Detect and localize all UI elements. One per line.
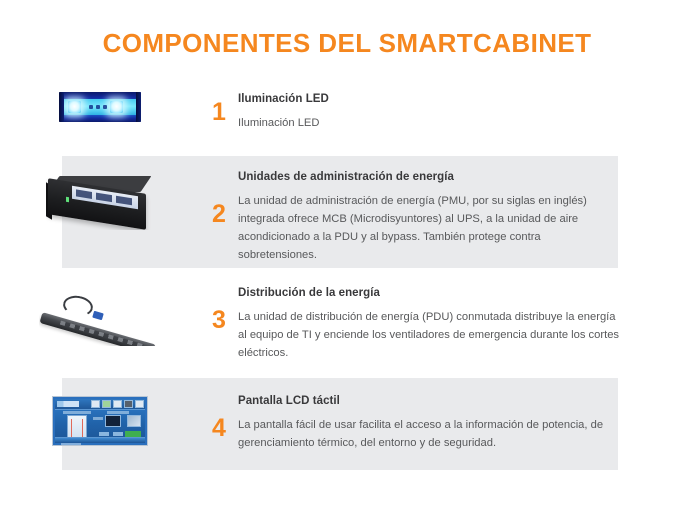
thumbnail-cell	[0, 92, 200, 122]
led-strip-image	[59, 92, 141, 122]
pmu-breaker-slot	[116, 196, 132, 206]
row-content: 3 Distribución de la energía La unidad d…	[0, 278, 694, 362]
led-chip	[68, 101, 81, 113]
lcd-toolbar-icon	[91, 400, 100, 408]
pdu-outlets	[60, 321, 144, 346]
pmu-status-led	[66, 197, 69, 202]
item-number: 1	[200, 92, 238, 125]
lcd-text-line	[63, 411, 91, 414]
thumbnail-cell	[0, 286, 200, 346]
pdu-strip-image	[39, 290, 161, 346]
pmu-breaker-slot	[96, 193, 112, 203]
row-content: 2 Unidades de administración de energía …	[0, 156, 694, 265]
lcd-toolbar-icon	[135, 400, 144, 408]
item-heading: Distribución de la energía	[238, 286, 676, 301]
lcd-logo	[57, 401, 79, 407]
led-chip	[110, 101, 123, 113]
item-heading: Iluminación LED	[238, 92, 676, 107]
component-row-4: 4 Pantalla LCD táctil La pantalla fácil …	[0, 378, 694, 470]
item-heading: Unidades de administración de energía	[238, 170, 676, 185]
lcd-text-line	[107, 411, 129, 414]
item-text: Iluminación LED Iluminación LED	[238, 92, 694, 132]
led-resistor	[89, 105, 93, 109]
item-text: Distribución de la energía La unidad de …	[238, 286, 694, 362]
led-edge-left	[59, 92, 64, 122]
item-number: 3	[200, 286, 238, 333]
lcd-text-line	[61, 443, 81, 446]
lcd-toolbar-icon	[124, 400, 133, 408]
lcd-photo-widget	[127, 415, 141, 427]
item-body: La unidad de distribución de energía (PD…	[238, 308, 620, 362]
item-body: Iluminación LED	[238, 114, 610, 132]
infographic-page: COMPONENTES DEL SMARTCABINET 1 Iluminaci…	[0, 0, 694, 516]
item-text: Unidades de administración de energía La…	[238, 170, 694, 265]
led-resistor	[96, 105, 100, 109]
row-content: 1 Iluminación LED Iluminación LED	[0, 92, 694, 132]
item-body: La pantalla fácil de usar facilita el ac…	[238, 416, 614, 452]
lcd-toolbar-icon	[113, 400, 122, 408]
pdu-plug	[92, 311, 104, 320]
lcd-screen	[55, 399, 145, 443]
component-row-3: 3 Distribución de la energía La unidad d…	[0, 278, 694, 368]
lcd-node	[113, 432, 123, 436]
row-content: 4 Pantalla LCD táctil La pantalla fácil …	[0, 378, 694, 452]
page-title: COMPONENTES DEL SMARTCABINET	[0, 28, 694, 59]
component-row-2: 2 Unidades de administración de energía …	[0, 156, 694, 268]
lcd-monitor-widget	[105, 415, 121, 427]
lcd-touchscreen-image	[52, 396, 148, 446]
lcd-bottom-bar	[55, 437, 145, 443]
thumbnail-cell	[0, 394, 200, 446]
component-row-1: 1 Iluminación LED Iluminación LED	[0, 92, 694, 152]
thumbnail-cell	[0, 170, 200, 230]
pdu-cable	[61, 294, 94, 319]
lcd-toolbar-icon	[102, 400, 111, 408]
item-heading: Pantalla LCD táctil	[238, 394, 676, 409]
led-resistor	[103, 105, 107, 109]
led-edge-right	[136, 92, 141, 122]
lcd-text-line	[93, 417, 103, 420]
item-body: La unidad de administración de energía (…	[238, 192, 610, 265]
item-text: Pantalla LCD táctil La pantalla fácil de…	[238, 394, 694, 452]
item-number: 2	[200, 170, 238, 227]
item-number: 4	[200, 394, 238, 441]
power-management-unit-image	[46, 172, 154, 230]
pmu-breaker-slot	[76, 189, 92, 199]
lcd-node	[99, 432, 109, 436]
